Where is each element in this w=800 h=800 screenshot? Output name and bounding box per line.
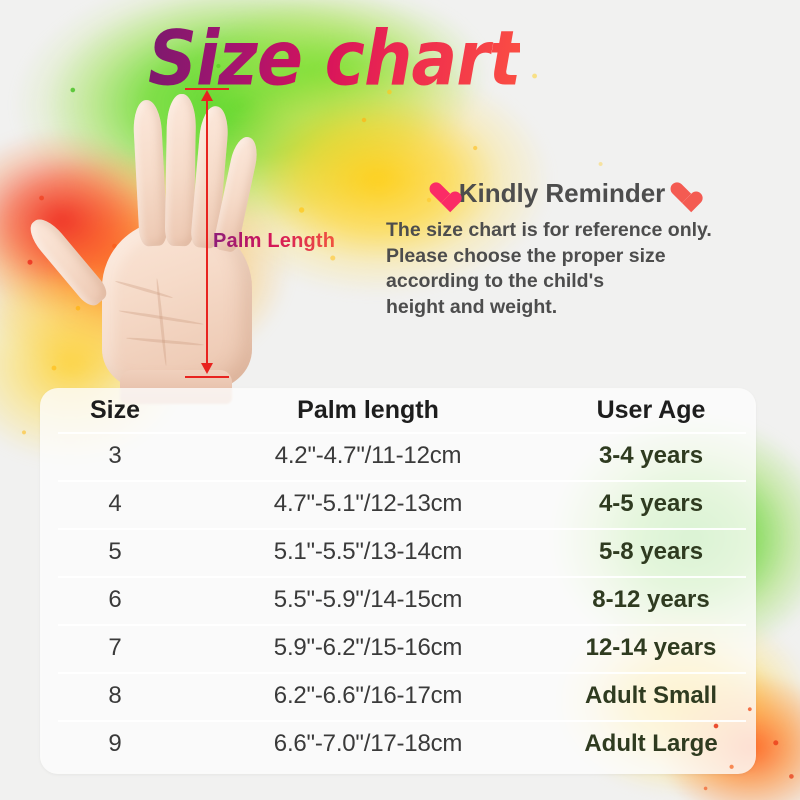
table-row: 9 6.6"-7.0"/17-18cm Adult Large: [40, 720, 756, 768]
reminder-heading-text: Kindly Reminder: [459, 178, 666, 209]
heart-icon: [428, 181, 455, 206]
kindly-reminder-block: Kindly Reminder The size chart is for re…: [386, 178, 738, 321]
reminder-line: The size chart is for reference only.: [386, 218, 738, 244]
table-row: 7 5.9"-6.2"/15-16cm 12-14 years: [40, 624, 756, 672]
cell-size: 6: [40, 586, 190, 614]
table-header-row: Size Palm length User Age: [40, 388, 756, 432]
column-header-palm-length: Palm length: [190, 396, 546, 425]
cell-user-age: Adult Large: [546, 730, 756, 758]
cell-palm-length: 6.2"-6.6"/16-17cm: [190, 682, 546, 710]
cell-user-age: 12-14 years: [546, 634, 756, 662]
cell-size: 5: [40, 538, 190, 566]
cell-user-age: 8-12 years: [546, 586, 756, 614]
cell-palm-length: 5.9"-6.2"/15-16cm: [190, 634, 546, 662]
cell-size: 4: [40, 490, 190, 518]
column-header-size: Size: [40, 396, 190, 425]
column-header-user-age: User Age: [546, 396, 756, 425]
cell-size: 8: [40, 682, 190, 710]
cell-user-age: 3-4 years: [546, 442, 756, 470]
palm-length-label: Palm Length: [213, 230, 335, 253]
cell-palm-length: 4.2"-4.7"/11-12cm: [190, 442, 546, 470]
cell-user-age: 5-8 years: [546, 538, 756, 566]
measure-line: [206, 94, 208, 372]
size-table: Size Palm length User Age 3 4.2"-4.7"/11…: [40, 388, 756, 774]
arrow-up-icon: [201, 90, 213, 101]
size-chart-poster: Size chart Palm Length Kindly Reminder T…: [0, 0, 800, 800]
cell-user-age: 4-5 years: [546, 490, 756, 518]
heart-icon: [669, 181, 696, 206]
thumb-shape: [24, 213, 112, 310]
cell-user-age: Adult Small: [546, 682, 756, 710]
table-row: 4 4.7"-5.1"/12-13cm 4-5 years: [40, 480, 756, 528]
table-row: 5 5.1"-5.5"/13-14cm 5-8 years: [40, 528, 756, 576]
cell-palm-length: 4.7"-5.1"/12-13cm: [190, 490, 546, 518]
reminder-line: Please choose the proper size: [386, 244, 738, 270]
measure-cap-bottom: [185, 376, 229, 378]
table-row: 3 4.2"-4.7"/11-12cm 3-4 years: [40, 432, 756, 480]
table-row: 8 6.2"-6.6"/16-17cm Adult Small: [40, 672, 756, 720]
arrow-down-icon: [201, 363, 213, 374]
reminder-heading: Kindly Reminder: [386, 178, 738, 209]
table-row: 6 5.5"-5.9"/14-15cm 8-12 years: [40, 576, 756, 624]
reminder-line: height and weight.: [386, 295, 738, 321]
cell-size: 9: [40, 730, 190, 758]
cell-size: 7: [40, 634, 190, 662]
reminder-body: The size chart is for reference only. Pl…: [386, 218, 738, 321]
cell-size: 3: [40, 442, 190, 470]
index-finger-shape: [132, 99, 168, 246]
reminder-line: according to the child's: [386, 269, 738, 295]
cell-palm-length: 5.1"-5.5"/13-14cm: [190, 538, 546, 566]
cell-palm-length: 6.6"-7.0"/17-18cm: [190, 730, 546, 758]
cell-palm-length: 5.5"-5.9"/14-15cm: [190, 586, 546, 614]
